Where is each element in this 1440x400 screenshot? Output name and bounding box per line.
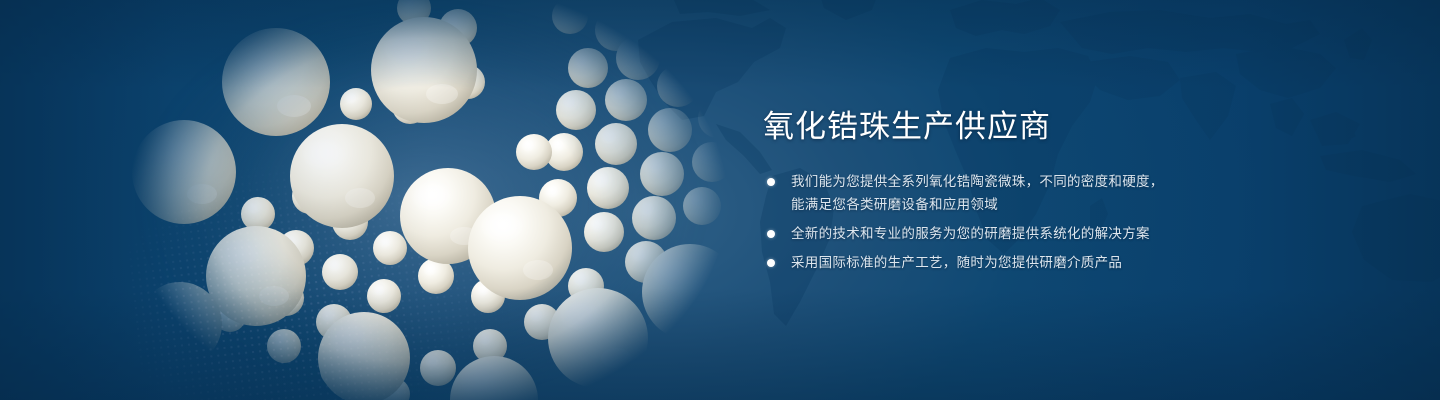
bullet-dot-icon — [767, 259, 775, 267]
list-item: 全新的技术和专业的服务为您的研磨提供系统化的解决方案 — [763, 222, 1363, 245]
list-item: 采用国际标准的生产工艺，随时为您提供研磨介质产品 — [763, 251, 1363, 274]
list-item-line-1: 我们能为您提供全系列氧化锆陶瓷微珠，不同的密度和硬度， — [791, 170, 1363, 193]
bullet-dot-icon — [767, 178, 775, 186]
list-item-line-1: 采用国际标准的生产工艺，随时为您提供研磨介质产品 — [791, 251, 1363, 274]
feature-list: 我们能为您提供全系列氧化锆陶瓷微珠，不同的密度和硬度， 能满足您各类研磨设备和应… — [763, 170, 1363, 274]
banner-copy: 氧化锆珠生产供应商 我们能为您提供全系列氧化锆陶瓷微珠，不同的密度和硬度， 能满… — [763, 106, 1363, 274]
page-title: 氧化锆珠生产供应商 — [763, 106, 1363, 148]
bullet-dot-icon — [767, 230, 775, 238]
list-item-line-2: 能满足您各类研磨设备和应用领域 — [791, 193, 1363, 216]
list-item: 我们能为您提供全系列氧化锆陶瓷微珠，不同的密度和硬度， 能满足您各类研磨设备和应… — [763, 170, 1363, 216]
hero-banner: 氧化锆珠生产供应商 我们能为您提供全系列氧化锆陶瓷微珠，不同的密度和硬度， 能满… — [0, 0, 1440, 400]
list-item-line-1: 全新的技术和专业的服务为您的研磨提供系统化的解决方案 — [791, 222, 1363, 245]
